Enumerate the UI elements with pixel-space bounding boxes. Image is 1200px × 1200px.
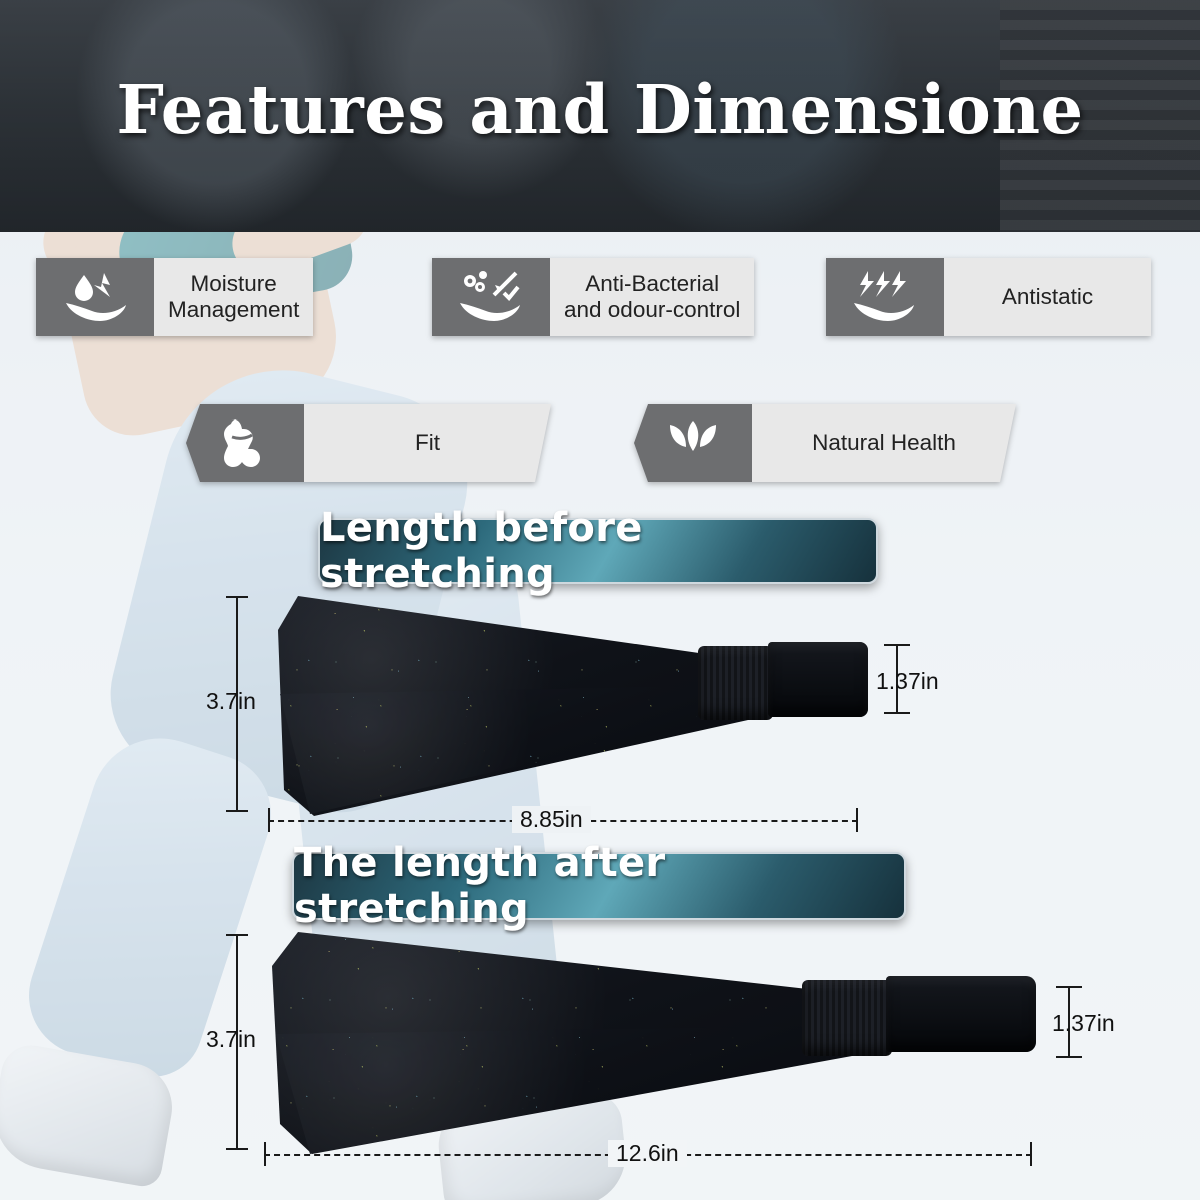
dim-cap-bottom-before-cuff — [884, 712, 910, 714]
feature-chip-anti-bacterial[interactable]: Anti-Bacterial and odour-control — [432, 258, 754, 336]
fabric-sparkle-fold-after — [276, 1026, 826, 1156]
dim-cap-bottom-after-cuff — [1056, 1056, 1082, 1058]
title-band: Features and Dimensione — [0, 0, 1200, 232]
dim-label-after-width: 12.6in — [608, 1140, 687, 1167]
product-fabric-fold-after — [276, 1026, 826, 1156]
natural-leaves-icon-svg — [656, 415, 730, 471]
antistatic-bolts-icon-svg — [848, 269, 922, 325]
anti-bacterial-icon-svg — [454, 269, 528, 325]
banner-text-before: Length before stretching — [320, 505, 876, 597]
feature-label-line-1: Anti-Bacterial — [585, 271, 719, 296]
banner-length-before-stretching: Length before stretching — [318, 518, 878, 584]
dim-cap-bottom-after-height — [226, 1148, 248, 1150]
feature-chip-antistatic[interactable]: Antistatic — [826, 258, 1151, 336]
page-title: Features and Dimensione — [0, 70, 1200, 149]
product-infographic: Features and Dimensione Moisture Managem… — [0, 0, 1200, 1200]
product-fabric-fold-before — [280, 686, 720, 816]
feature-chip-natural-health[interactable]: Natural Health — [634, 404, 1016, 482]
product-cuff-end-after — [886, 976, 1036, 1052]
dim-cap-right-before-width — [856, 808, 858, 832]
fit-body-icon-svg — [208, 415, 282, 471]
product-cuff-end-before — [768, 642, 868, 717]
dim-label-before-cuff: 1.37in — [876, 668, 939, 695]
product-band-after — [262, 928, 1062, 1160]
moisture-drop-icon-svg — [58, 269, 132, 325]
dim-label-before-width: 8.85in — [512, 806, 591, 833]
banner-length-after-stretching: The length after stretching — [292, 852, 906, 920]
feature-chip-moisture-management[interactable]: Moisture Management — [36, 258, 313, 336]
dim-cap-right-after-width — [1030, 1142, 1032, 1166]
feature-label-fit: Fit — [304, 404, 551, 482]
dim-label-after-height: 3.7in — [206, 1026, 256, 1053]
fabric-sparkle-fold-before — [280, 686, 720, 816]
moisture-drop-icon — [36, 258, 154, 336]
feature-label-natural-health: Natural Health — [752, 404, 1016, 482]
dim-cap-bottom-before-height — [226, 810, 248, 812]
anti-bacterial-icon — [432, 258, 550, 336]
dim-label-before-height: 3.7in — [206, 688, 256, 715]
feature-label-anti-bacterial: Anti-Bacterial and odour-control — [550, 258, 754, 336]
banner-text-after: The length after stretching — [294, 840, 904, 932]
feature-label-moisture-management: Moisture Management — [154, 258, 313, 336]
fit-body-icon — [186, 404, 304, 482]
dim-label-after-cuff: 1.37in — [1052, 1010, 1115, 1037]
product-cuff-after — [802, 980, 892, 1056]
antistatic-bolts-icon — [826, 258, 944, 336]
product-band-before — [268, 590, 888, 822]
natural-leaves-icon — [634, 404, 752, 482]
feature-label-antistatic: Antistatic — [944, 258, 1151, 336]
feature-chip-fit[interactable]: Fit — [186, 404, 551, 482]
feature-label-line-2: Management — [168, 297, 299, 322]
product-cuff-before — [698, 646, 773, 720]
feature-label-line-2: and odour-control — [564, 297, 740, 322]
feature-label-line-1: Moisture — [191, 271, 277, 296]
